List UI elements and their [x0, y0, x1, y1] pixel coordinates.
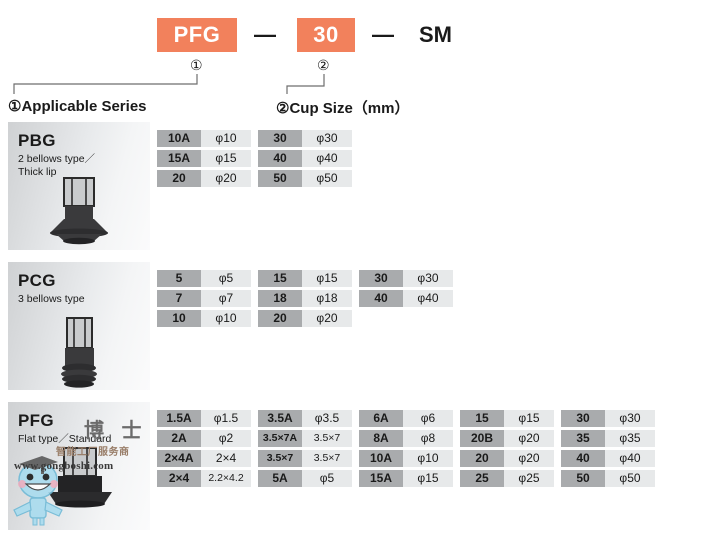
size-pair: 40 φ40 [359, 290, 453, 307]
size-group: 1.5A φ1.5 2A φ2 2×4A 2×4 2×4 2.2×4.2 [157, 410, 251, 490]
product-name-pcg: PCG [18, 271, 56, 291]
size-code: 15 [460, 410, 504, 427]
size-code: 3.5×7 [258, 450, 302, 467]
size-code: 30 [561, 410, 605, 427]
size-pair: 10A φ10 [359, 450, 453, 467]
size-diameter: φ6 [403, 410, 453, 427]
model-code-diagram: PFG — 30 — SM ① ② [0, 0, 721, 58]
size-pair: 15A φ15 [157, 150, 251, 167]
size-pair: 10 φ10 [157, 310, 251, 327]
watermark-url: www.gongboshi.com [14, 460, 113, 472]
size-diameter: φ40 [605, 450, 655, 467]
size-code: 3.5×7A [258, 430, 302, 447]
size-diameter: φ10 [403, 450, 453, 467]
size-group: 6A φ6 8A φ8 10A φ10 15A φ15 [359, 410, 453, 490]
size-diameter: φ20 [504, 450, 554, 467]
size-pair: 2×4A 2×4 [157, 450, 251, 467]
product-panel-pcg: PCG 3 bellows type [8, 262, 150, 390]
size-pair: 35 φ35 [561, 430, 655, 447]
size-code: 7 [157, 290, 201, 307]
size-diameter: 2.2×4.2 [201, 470, 251, 487]
size-pair: 10A φ10 [157, 130, 251, 147]
size-pair: 6A φ6 [359, 410, 453, 427]
size-pair: 30 φ30 [258, 130, 352, 147]
size-code: 10 [157, 310, 201, 327]
product-name-pbg: PBG [18, 131, 56, 151]
size-diameter: φ35 [605, 430, 655, 447]
size-pair: 5 φ5 [157, 270, 251, 287]
size-group: 30 φ30 35 φ35 40 φ40 50 φ50 [561, 410, 655, 490]
watermark-chinese-large: 博 士 [84, 414, 148, 443]
suction-cup-3-bellows-icon [44, 316, 114, 388]
size-code: 25 [460, 470, 504, 487]
size-diameter: φ15 [201, 150, 251, 167]
size-diameter: 3.5×7 [302, 430, 352, 447]
size-diameter: φ40 [403, 290, 453, 307]
size-diameter: 3.5×7 [302, 450, 352, 467]
product-panel-pfg: PFG Flat type／Standard [8, 402, 150, 530]
size-diameter: φ7 [201, 290, 251, 307]
size-pair: 5A φ5 [258, 470, 352, 487]
size-pair: 3.5×7A 3.5×7 [258, 430, 352, 447]
size-pair: 18 φ18 [258, 290, 352, 307]
size-diameter: φ30 [605, 410, 655, 427]
size-pair: 30 φ30 [359, 270, 453, 287]
size-code: 15A [359, 470, 403, 487]
model-code-suffix: SM [419, 18, 452, 52]
size-pair: 1.5A φ1.5 [157, 410, 251, 427]
size-code: 30 [359, 270, 403, 287]
size-pair: 20 φ20 [460, 450, 554, 467]
size-code: 5A [258, 470, 302, 487]
size-pair: 50 φ50 [561, 470, 655, 487]
size-group: 30 φ30 40 φ40 [359, 270, 453, 310]
size-diameter: φ10 [201, 310, 251, 327]
size-pair: 15A φ15 [359, 470, 453, 487]
size-pair: 15 φ15 [460, 410, 554, 427]
size-diameter: φ20 [302, 310, 352, 327]
size-diameter: φ15 [403, 470, 453, 487]
size-pair: 15 φ15 [258, 270, 352, 287]
size-diameter: φ5 [302, 470, 352, 487]
size-pair: 3.5A φ3.5 [258, 410, 352, 427]
model-code-size-box: 30 [297, 18, 355, 52]
size-pair: 25 φ25 [460, 470, 554, 487]
size-code: 20B [460, 430, 504, 447]
size-pair: 40 φ40 [258, 150, 352, 167]
product-panel-pbg: PBG 2 bellows type／ Thick lip [8, 122, 150, 250]
product-desc-pbg: 2 bellows type／ Thick lip [18, 153, 150, 178]
size-code: 15 [258, 270, 302, 287]
size-diameter: φ20 [504, 430, 554, 447]
size-pair: 7 φ7 [157, 290, 251, 307]
size-code: 30 [258, 130, 302, 147]
size-code: 1.5A [157, 410, 201, 427]
size-group: 15 φ15 18 φ18 20 φ20 [258, 270, 352, 330]
size-diameter: φ20 [201, 170, 251, 187]
size-diameter: φ15 [504, 410, 554, 427]
size-diameter: φ3.5 [302, 410, 352, 427]
size-code: 10A [157, 130, 201, 147]
size-code: 5 [157, 270, 201, 287]
size-pair: 40 φ40 [561, 450, 655, 467]
size-code: 10A [359, 450, 403, 467]
size-code: 15A [157, 150, 201, 167]
size-pair: 30 φ30 [561, 410, 655, 427]
size-diameter: φ18 [302, 290, 352, 307]
leader-lines [0, 70, 721, 100]
size-code: 8A [359, 430, 403, 447]
size-diameter: φ5 [201, 270, 251, 287]
size-diameter: φ30 [302, 130, 352, 147]
model-code-dash-2: — [371, 18, 395, 52]
product-desc-pcg: 3 bellows type [18, 293, 150, 306]
section-title-applicable-series: ①Applicable Series [8, 97, 147, 115]
size-pair: 20B φ20 [460, 430, 554, 447]
size-diameter: φ25 [504, 470, 554, 487]
product-name-pfg: PFG [18, 411, 54, 431]
size-pair: 3.5×7 3.5×7 [258, 450, 352, 467]
size-code: 40 [258, 150, 302, 167]
model-code-series-box: PFG [157, 18, 237, 52]
suction-cup-2-bellows-icon [44, 176, 114, 246]
size-pair: 2A φ2 [157, 430, 251, 447]
product-row-pfg: PFG Flat type／Standard [0, 402, 721, 530]
size-diameter: φ15 [302, 270, 352, 287]
model-code-dash-1: — [253, 18, 277, 52]
size-code: 35 [561, 430, 605, 447]
size-pair: 50 φ50 [258, 170, 352, 187]
size-group: 30 φ30 40 φ40 50 φ50 [258, 130, 352, 190]
size-group: 10A φ10 15A φ15 20 φ20 [157, 130, 251, 190]
size-pair: 20 φ20 [258, 310, 352, 327]
size-code: 20 [258, 310, 302, 327]
size-pair: 2×4 2.2×4.2 [157, 470, 251, 487]
size-diameter: φ1.5 [201, 410, 251, 427]
size-diameter: φ10 [201, 130, 251, 147]
size-code: 18 [258, 290, 302, 307]
watermark-chinese-small: 智能工厂服务商 [56, 443, 130, 458]
size-code: 20 [460, 450, 504, 467]
size-code: 50 [561, 470, 605, 487]
size-diameter: φ50 [605, 470, 655, 487]
size-pair: 8A φ8 [359, 430, 453, 447]
size-code: 50 [258, 170, 302, 187]
section-title-cup-size: ②Cup Size（mm） [276, 97, 409, 118]
size-code: 3.5A [258, 410, 302, 427]
size-group: 5 φ5 7 φ7 10 φ10 [157, 270, 251, 330]
size-diameter: 2×4 [201, 450, 251, 467]
product-row-pbg: PBG 2 bellows type／ Thick lip 10A φ10 15… [0, 122, 721, 250]
size-code: 40 [359, 290, 403, 307]
size-diameter: φ2 [201, 430, 251, 447]
size-diameter: φ50 [302, 170, 352, 187]
size-code: 6A [359, 410, 403, 427]
size-pair: 20 φ20 [157, 170, 251, 187]
size-code: 20 [157, 170, 201, 187]
size-code: 40 [561, 450, 605, 467]
size-group: 3.5A φ3.5 3.5×7A 3.5×7 3.5×7 3.5×7 5A φ5 [258, 410, 352, 490]
size-diameter: φ30 [403, 270, 453, 287]
product-row-pcg: PCG 3 bellows type 5 φ5 7 φ7 10 φ10 15 [0, 262, 721, 390]
size-code: 2A [157, 430, 201, 447]
size-code: 2×4 [157, 470, 201, 487]
size-diameter: φ40 [302, 150, 352, 167]
size-diameter: φ8 [403, 430, 453, 447]
size-group: 15 φ15 20B φ20 20 φ20 25 φ25 [460, 410, 554, 490]
size-code: 2×4A [157, 450, 201, 467]
